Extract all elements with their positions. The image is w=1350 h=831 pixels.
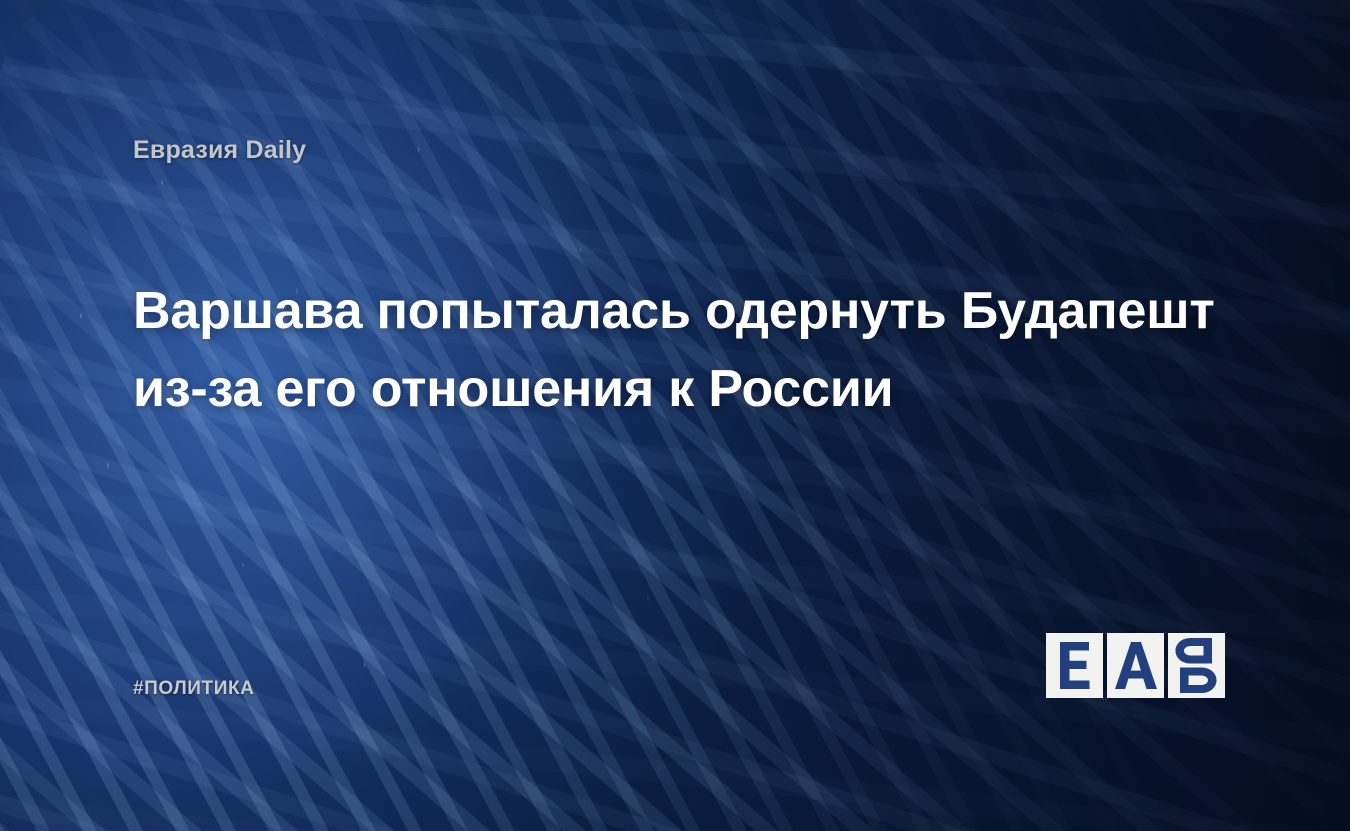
article-headline: Варшава попыталась одернуть Будапешт из-… [133, 272, 1243, 428]
site-name: Евразия Daily [133, 136, 306, 165]
news-share-card: Евразия Daily Варшава попыталась одернут… [0, 0, 1350, 831]
category-tag: #ПОЛИТИКА [133, 678, 255, 700]
logo-tile-e [1046, 633, 1103, 698]
logo-tile-a [1107, 633, 1164, 698]
card-content: Евразия Daily Варшава попыталась одернут… [0, 0, 1350, 831]
ead-logo [1046, 633, 1225, 698]
logo-tile-d [1168, 633, 1225, 698]
